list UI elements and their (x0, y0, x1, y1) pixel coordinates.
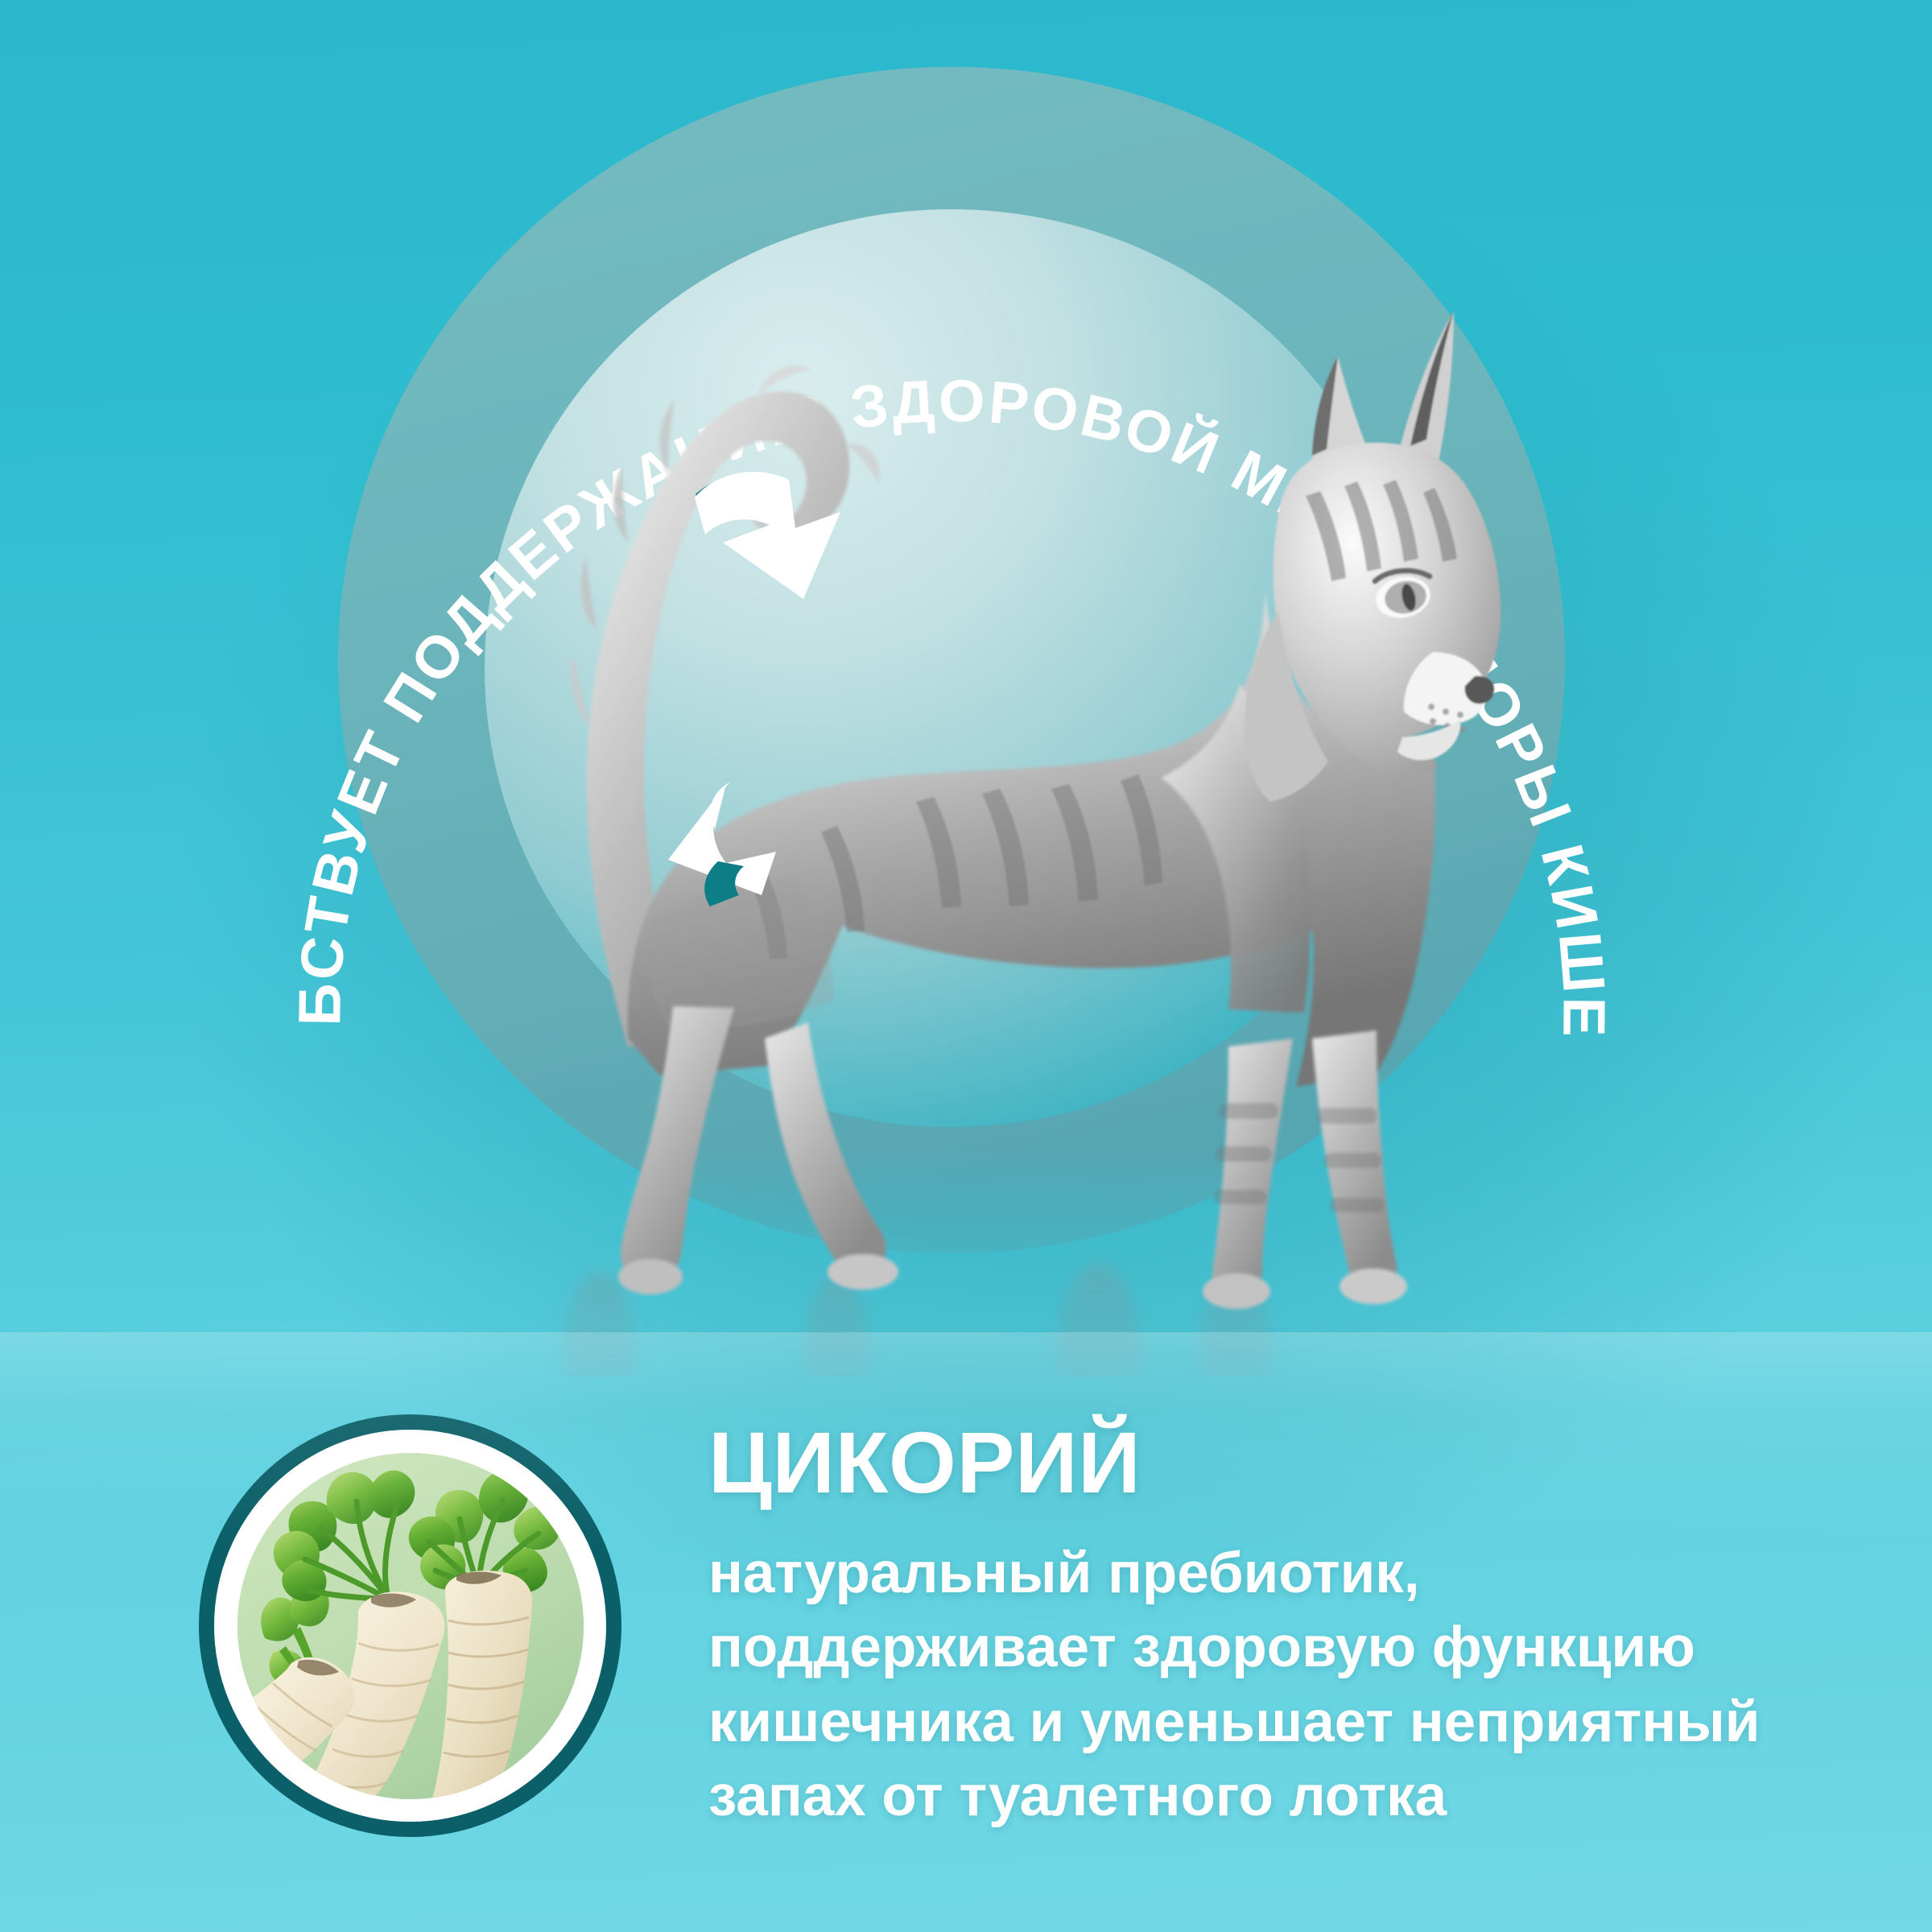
promo-banner: СПОСОБСТВУЕТ ПОДДЕРЖАНИЮ ЗДОРОВОЙ МИКРОФ… (0, 0, 1932, 1932)
ingredient-title: ЦИКОРИЙ (708, 1419, 1819, 1506)
chicory-root-svg (237, 1453, 584, 1799)
desc-line-2: поддерживает здоровую функцию (708, 1616, 1695, 1679)
desc-line-1: натуральный пребиотик, (708, 1542, 1420, 1605)
chicory-root-icon (237, 1453, 584, 1799)
ingredient-block: ЦИКОРИЙ натуральный пребиотик,поддержива… (0, 1397, 1932, 1912)
desc-line-3: кишечника и уменьшает неприятный (708, 1690, 1760, 1754)
cat-head (1245, 311, 1501, 802)
badge-white-ring (214, 1430, 606, 1822)
ingredient-copy: ЦИКОРИЙ натуральный пребиотик,поддержива… (708, 1419, 1819, 1834)
cat-svg (386, 233, 1513, 1377)
chicory-badge (199, 1414, 621, 1837)
desc-line-4: запах от туалетного лотка (708, 1765, 1447, 1828)
cat-illustration (386, 233, 1513, 1377)
ingredient-description: натуральный пребиотик,поддерживает здоро… (708, 1537, 1819, 1834)
